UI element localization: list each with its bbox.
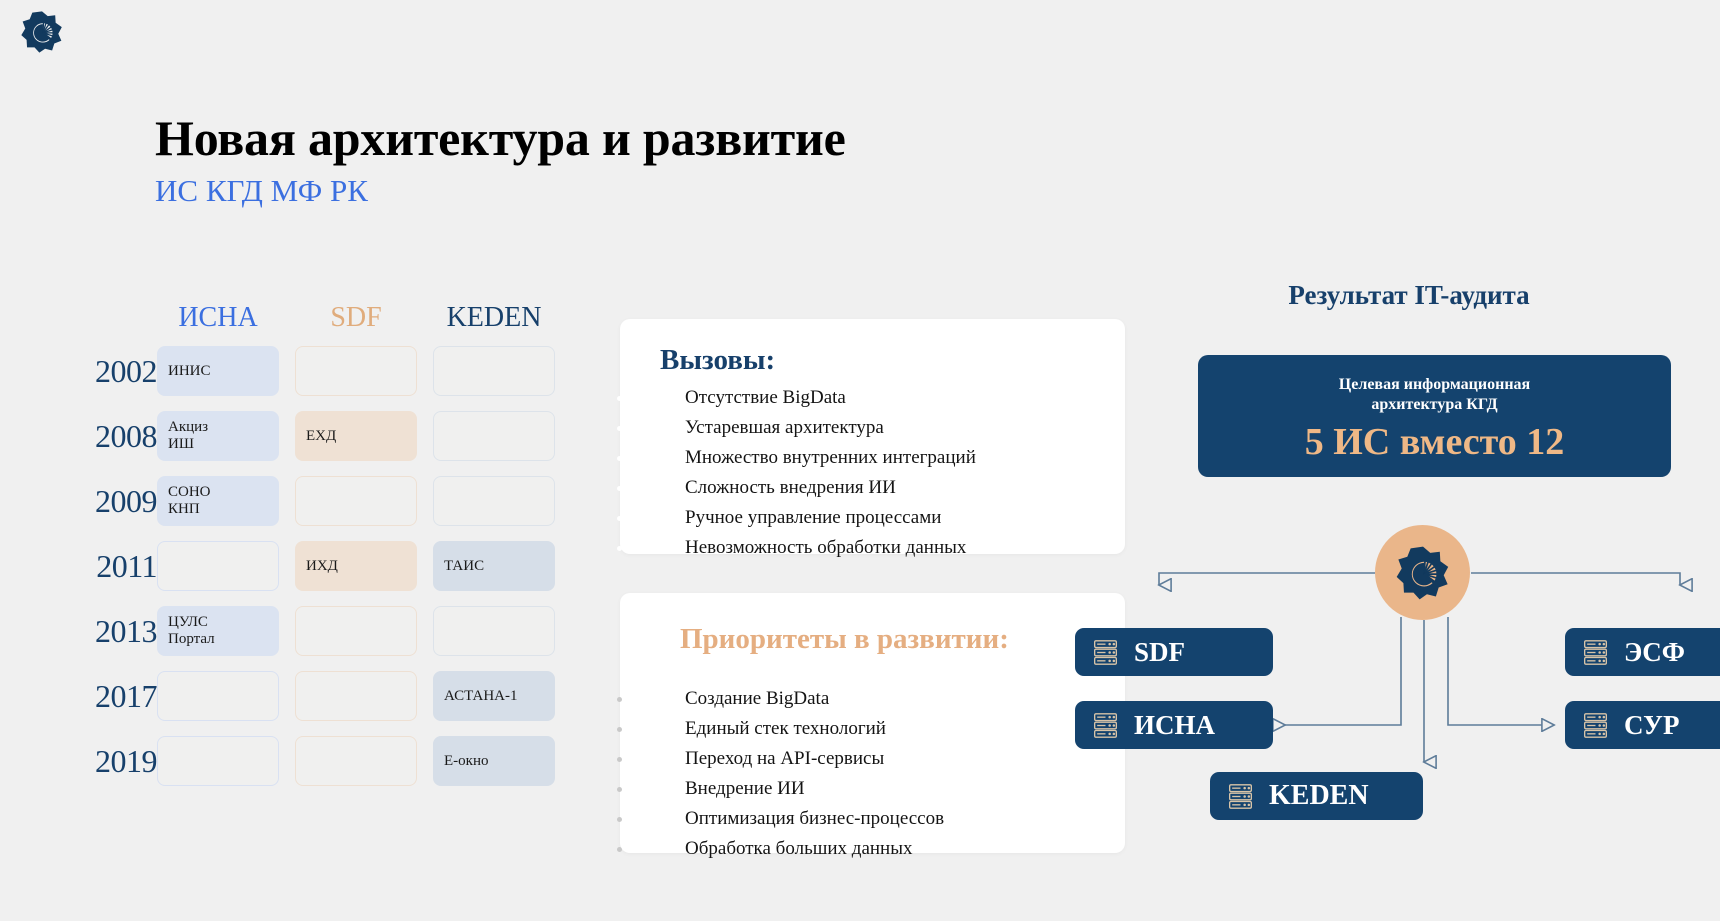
timeline-cell-isna[interactable]: АкцизИШ (157, 411, 279, 461)
list-item: Сложность внедрения ИИ (685, 473, 976, 503)
timeline-cell-label: ИНИС (168, 363, 211, 380)
timeline-row: 2019Е-окно (95, 736, 565, 786)
audit-banner: Целевая информационная архитектура КГД 5… (1198, 355, 1671, 477)
list-item: Множество внутренних интеграций (685, 443, 976, 473)
timeline-cell-keden (433, 476, 555, 526)
connector-hub-to-sdf (1159, 573, 1375, 585)
page-title: Новая архитектура и развитие (155, 110, 846, 166)
architecture-node-sur[interactable]: СУР (1565, 701, 1720, 749)
timeline-cell-label: Е-окно (444, 753, 488, 770)
connector-hub-to-sur (1448, 617, 1554, 725)
timeline-year: 2008 (95, 420, 157, 452)
timeline-header-row: ИСНА SDF KEDEN (95, 288, 565, 332)
timeline-row: 2008АкцизИШЕХД (95, 411, 565, 461)
timeline-cell-keden (433, 411, 555, 461)
timeline-cell-sdf (295, 606, 417, 656)
audit-heading: Результат IT-аудита (1189, 280, 1629, 311)
list-item: Внедрение ИИ (685, 774, 944, 804)
challenges-title: Вызовы: (660, 346, 775, 375)
connector-hub-to-isna (1285, 617, 1401, 725)
architecture-node-label: ИСНА (1134, 712, 1215, 739)
timeline-cell-isna[interactable]: ЦУЛСПортал (157, 606, 279, 656)
timeline-year: 2019 (95, 745, 157, 777)
timeline-table: ИСНА SDF KEDEN 2002ИНИС2008АкцизИШЕХД200… (95, 288, 565, 801)
timeline-cell-label: АкцизИШ (168, 419, 208, 453)
list-item: Единый стек технологий (685, 714, 944, 744)
timeline-header-keden: KEDEN (433, 304, 555, 332)
architecture-node-label: SDF (1134, 639, 1185, 666)
challenges-list: Отсутствие BigDataУстаревшая архитектура… (685, 383, 976, 563)
priorities-list: Создание BigDataЕдиный стек технологийПе… (685, 684, 944, 864)
timeline-row: 2011ИХДТАИС (95, 541, 565, 591)
timeline-row: 2017АСТАНА-1 (95, 671, 565, 721)
timeline-year: 2002 (95, 355, 157, 387)
timeline-cell-sdf[interactable]: ИХД (295, 541, 417, 591)
challenges-card: Вызовы: Отсутствие BigDataУстаревшая арх… (620, 319, 1125, 554)
timeline-cell-sdf (295, 346, 417, 396)
timeline-cell-sdf[interactable]: ЕХД (295, 411, 417, 461)
page-subtitle: ИС КГД МФ РК (155, 174, 846, 208)
brand-logo (20, 10, 64, 54)
kgd-emblem-icon (20, 10, 64, 54)
timeline-cell-label: ИХД (306, 558, 338, 575)
list-item: Ручное управление процессами (685, 503, 976, 533)
timeline-year: 2013 (95, 615, 157, 647)
architecture-node-keden[interactable]: KEDEN (1210, 772, 1423, 820)
timeline-row: 2009СОНОКНП (95, 476, 565, 526)
timeline-cell-sdf (295, 671, 417, 721)
timeline-cell-label: СОНОКНП (168, 484, 211, 518)
timeline-cell-label: ТАИС (444, 558, 484, 575)
timeline-cell-label: ЕХД (306, 428, 336, 445)
list-item: Оптимизация бизнес-процессов (685, 804, 944, 834)
architecture-node-esf[interactable]: ЭСФ (1565, 628, 1720, 676)
timeline-body: 2002ИНИС2008АкцизИШЕХД2009СОНОКНП2011ИХД… (95, 346, 565, 786)
timeline-header-isna: ИСНА (157, 304, 279, 332)
priorities-card: Приоритеты в развитии: Создание BigDataЕ… (620, 593, 1125, 853)
server-rack-icon (1583, 639, 1608, 666)
timeline-cell-isna (157, 736, 279, 786)
timeline-cell-isna (157, 671, 279, 721)
timeline-cell-sdf (295, 736, 417, 786)
timeline-cell-keden[interactable]: Е-окно (433, 736, 555, 786)
timeline-year: 2011 (95, 550, 157, 582)
title-block: Новая архитектура и развитие ИС КГД МФ Р… (155, 110, 846, 208)
timeline-row: 2013ЦУЛСПортал (95, 606, 565, 656)
timeline-cell-isna[interactable]: ИНИС (157, 346, 279, 396)
architecture-diagram: SDF ИСНА (1160, 485, 1700, 885)
architecture-node-sdf[interactable]: SDF (1075, 628, 1273, 676)
timeline-cell-isna[interactable]: СОНОКНП (157, 476, 279, 526)
timeline-cell-label: ЦУЛСПортал (168, 614, 215, 648)
list-item: Невозможность обработки данных (685, 533, 976, 563)
timeline-year: 2009 (95, 485, 157, 517)
timeline-cell-keden[interactable]: АСТАНА-1 (433, 671, 555, 721)
list-item: Переход на API-сервисы (685, 744, 944, 774)
audit-banner-subtitle: Целевая информационная архитектура КГД (1339, 375, 1530, 414)
server-rack-icon (1093, 639, 1118, 666)
audit-banner-headline: 5 ИС вместо 12 (1305, 423, 1565, 461)
timeline-cell-label: АСТАНА-1 (444, 688, 518, 705)
architecture-node-label: KEDEN (1269, 782, 1369, 810)
timeline-cell-keden (433, 346, 555, 396)
list-item: Устаревшая архитектура (685, 413, 976, 443)
server-rack-icon (1583, 712, 1608, 739)
list-item: Отсутствие BigData (685, 383, 976, 413)
timeline-cell-keden (433, 606, 555, 656)
timeline-cell-isna (157, 541, 279, 591)
timeline-year: 2017 (95, 680, 157, 712)
timeline-row: 2002ИНИС (95, 346, 565, 396)
timeline-cell-sdf (295, 476, 417, 526)
architecture-node-label: СУР (1624, 712, 1679, 739)
list-item: Создание BigData (685, 684, 944, 714)
list-item: Обработка больших данных (685, 834, 944, 864)
timeline-cell-keden[interactable]: ТАИС (433, 541, 555, 591)
architecture-node-isna[interactable]: ИСНА (1075, 701, 1273, 749)
architecture-node-label: ЭСФ (1624, 639, 1685, 666)
server-rack-icon (1228, 783, 1253, 810)
priorities-title: Приоритеты в развитии: (680, 625, 1009, 654)
timeline-header-sdf: SDF (295, 304, 417, 332)
connector-hub-to-esf (1471, 573, 1680, 585)
kgd-emblem-icon (1395, 545, 1451, 601)
server-rack-icon (1093, 712, 1118, 739)
architecture-hub (1375, 525, 1470, 620)
